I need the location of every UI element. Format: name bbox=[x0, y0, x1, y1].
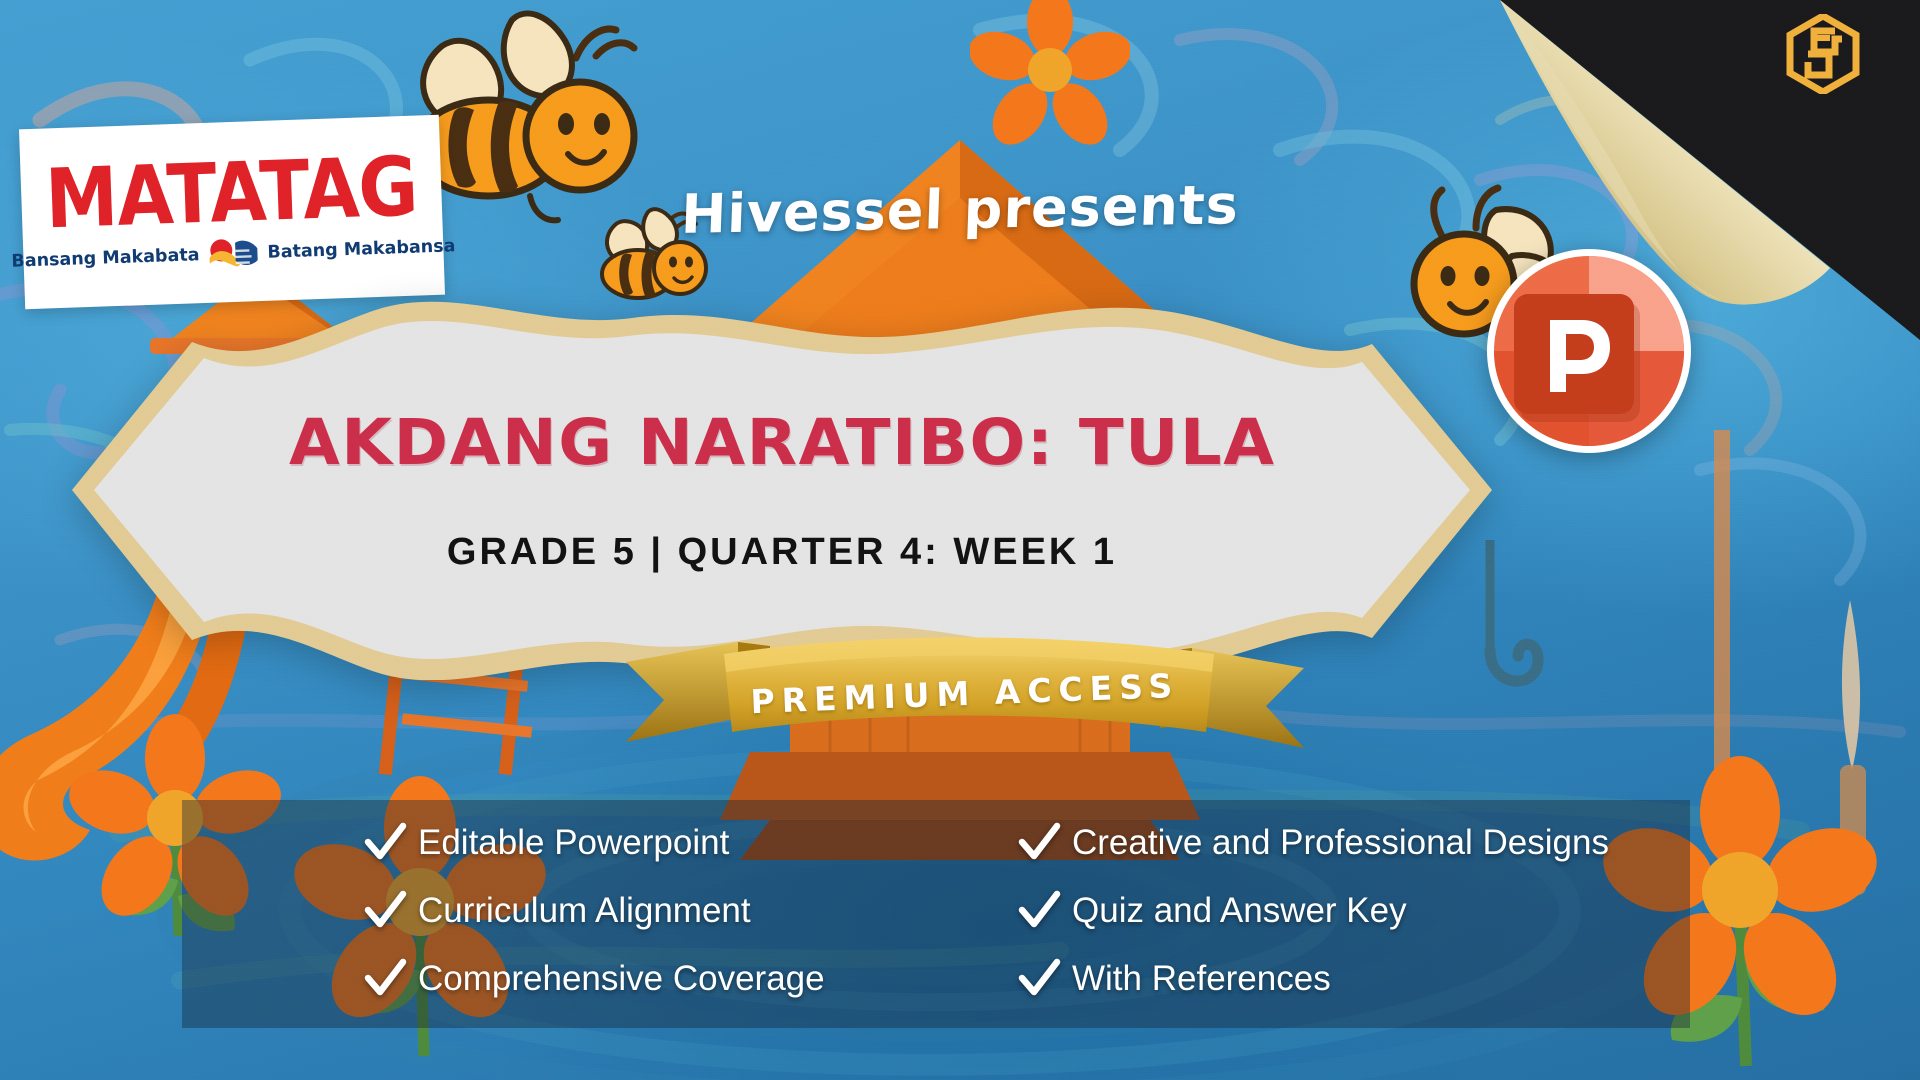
feature-label: With References bbox=[1072, 959, 1331, 999]
feature-label: Editable Powerpoint bbox=[418, 823, 729, 863]
feature-label: Creative and Professional Designs bbox=[1072, 823, 1609, 863]
check-icon bbox=[1016, 820, 1062, 866]
matatag-tagline-right: Batang Makabansa bbox=[267, 236, 456, 263]
feature-label: Comprehensive Coverage bbox=[418, 959, 825, 999]
matatag-wordmark: MATATAG bbox=[44, 149, 418, 240]
check-icon bbox=[362, 820, 408, 866]
matatag-logo-card: MATATAG Bansang Makabata Batang Makabans… bbox=[19, 115, 445, 310]
check-icon bbox=[362, 888, 408, 934]
feature-label: Curriculum Alignment bbox=[418, 891, 751, 931]
flower-icon bbox=[970, 0, 1130, 150]
lesson-meta: GRADE 5 | QUARTER 4: WEEK 1 bbox=[447, 531, 1117, 574]
feature-item: Creative and Professional Designs bbox=[1016, 812, 1690, 874]
feature-item: Editable Powerpoint bbox=[362, 812, 936, 874]
check-icon bbox=[1016, 888, 1062, 934]
powerpoint-icon bbox=[1478, 240, 1700, 462]
hivessel-hex-icon bbox=[1786, 14, 1860, 94]
feature-item: With References bbox=[1016, 948, 1690, 1010]
matatag-tagline-left: Bansang Makabata bbox=[11, 245, 200, 272]
check-icon bbox=[1016, 956, 1062, 1002]
feature-item: Quiz and Answer Key bbox=[1016, 880, 1690, 942]
presentation-cover-slide: MATATAG Bansang Makabata Batang Makabans… bbox=[0, 0, 1920, 1080]
feature-item: Curriculum Alignment bbox=[362, 880, 936, 942]
feature-label: Quiz and Answer Key bbox=[1072, 891, 1407, 931]
check-icon bbox=[362, 956, 408, 1002]
features-column-left: Editable Powerpoint Curriculum Alignment… bbox=[182, 812, 936, 1010]
premium-access-label: PREMIUM ACCESS bbox=[618, 615, 1312, 771]
feature-item: Comprehensive Coverage bbox=[362, 948, 936, 1010]
lesson-title: AKDANG NARATIBO: TULA bbox=[289, 406, 1275, 479]
features-panel: Editable Powerpoint Curriculum Alignment… bbox=[182, 800, 1690, 1028]
bee-icon bbox=[590, 200, 710, 310]
features-column-right: Creative and Professional Designs Quiz a… bbox=[936, 812, 1690, 1010]
